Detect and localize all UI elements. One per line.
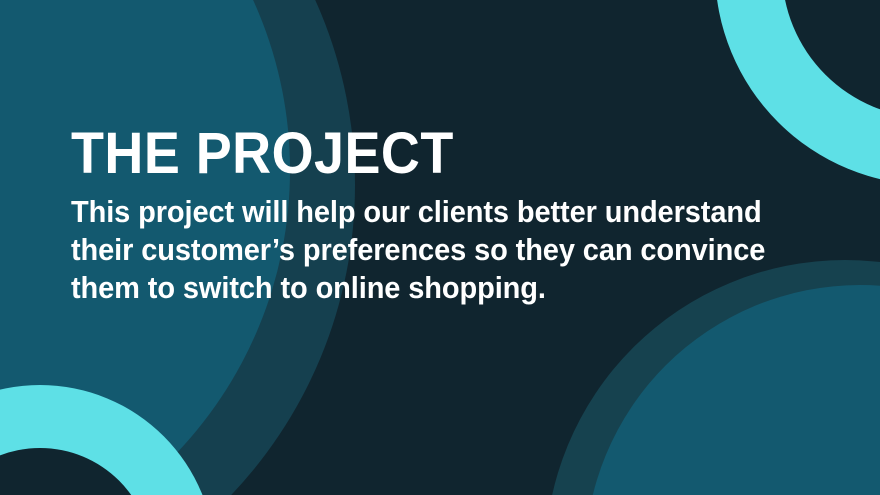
slide-body-text: This project will help our clients bette… — [71, 184, 774, 307]
presentation-slide: THE PROJECT This project will help our c… — [0, 0, 880, 495]
page-title: THE PROJECT — [71, 124, 759, 184]
slide-text-block: THE PROJECT This project will help our c… — [71, 124, 811, 307]
